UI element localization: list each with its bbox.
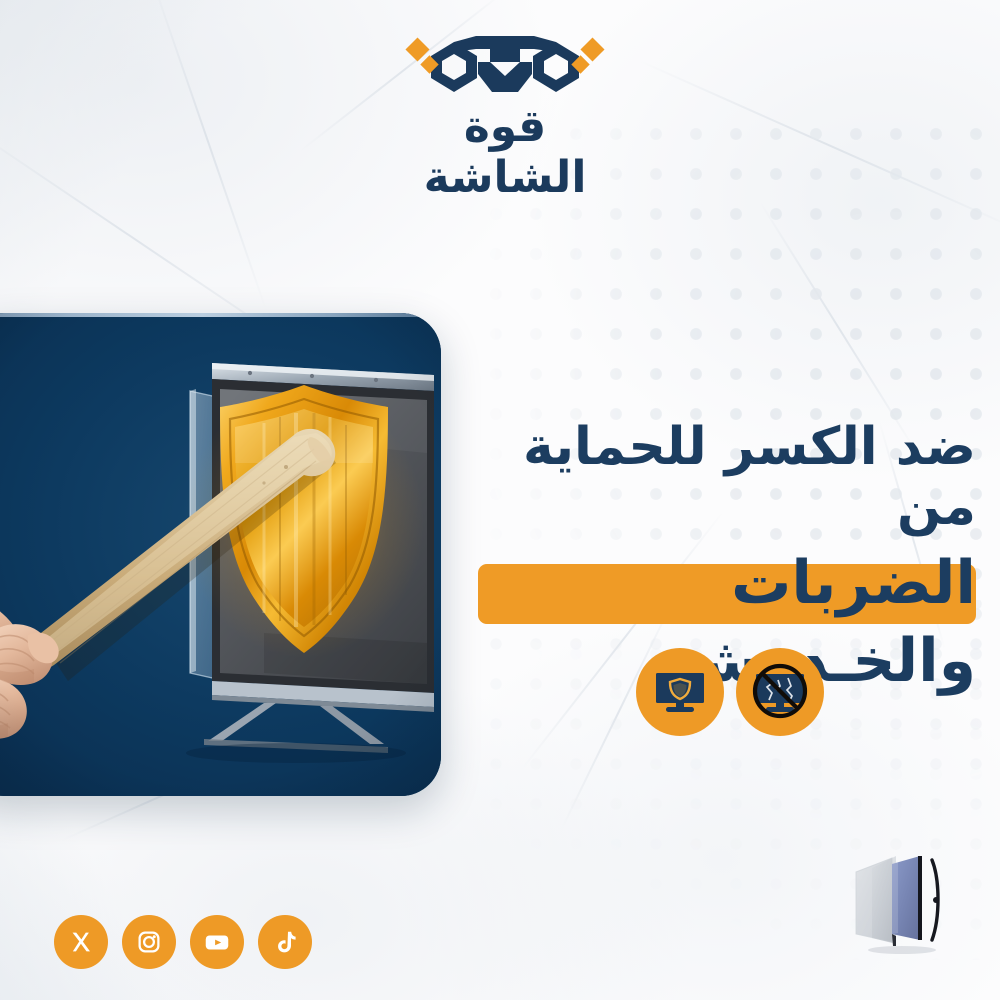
feature-badges — [636, 648, 824, 736]
hero-photo-panel — [0, 313, 441, 796]
social-links — [54, 915, 312, 969]
x-icon — [66, 927, 96, 957]
geometric-hexagon-x-emblem-icon — [380, 16, 630, 94]
badge-protected-screen[interactable] — [636, 648, 724, 736]
product-mock — [846, 838, 978, 970]
youtube-icon — [202, 927, 232, 957]
headline-block: ضد الكسر للحماية من الضربات والخـدوش — [440, 418, 980, 636]
tiktok-icon — [270, 927, 300, 957]
promo-poster: قوة الشاشة — [0, 0, 1000, 1000]
social-link-x-twitter[interactable] — [54, 915, 108, 969]
instagram-icon — [134, 927, 164, 957]
headline-line-1: ضد الكسر للحماية من — [440, 418, 980, 538]
cracked-tv-prohibited-icon — [748, 660, 812, 724]
panel-vignette — [0, 313, 441, 796]
social-link-instagram[interactable] — [122, 915, 176, 969]
screen-protector-panel-icon — [846, 838, 978, 970]
brand-logo: قوة الشاشة — [380, 16, 630, 166]
social-link-tiktok[interactable] — [258, 915, 312, 969]
social-link-youtube[interactable] — [190, 915, 244, 969]
brand-wordmark: قوة الشاشة — [380, 102, 630, 203]
badge-no-cracked-screen[interactable] — [736, 648, 824, 736]
tv-with-shield-icon — [648, 660, 712, 724]
